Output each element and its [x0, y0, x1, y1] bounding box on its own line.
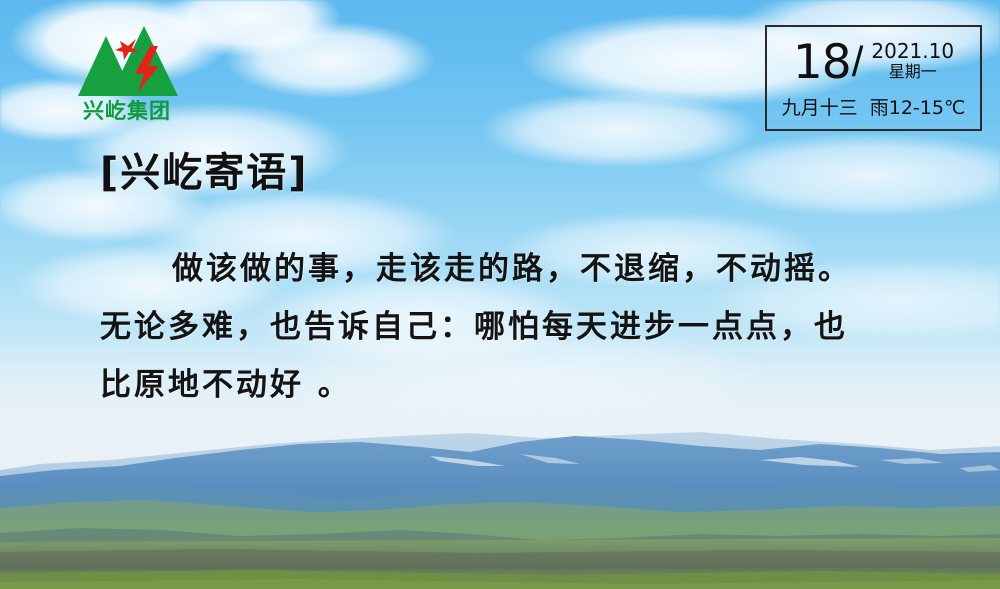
- date-weekday: 星期一: [889, 62, 937, 81]
- date-year-month: 2021.10: [871, 40, 954, 62]
- logo-brand-text: 兴屹集团: [66, 100, 188, 122]
- date-day: 18: [793, 39, 851, 86]
- date-card-top-row: 18 / 2021.10 星期一: [767, 31, 980, 93]
- date-card-right-column: 2021.10 星期一: [871, 40, 954, 81]
- lunar-date-weather: 九月十三 雨12-15℃: [767, 93, 980, 120]
- page-title: [兴屹寄语]: [100, 150, 309, 196]
- mountain-peak-icon: [66, 22, 188, 100]
- poster-canvas: 兴屹集团 18 / 2021.10 星期一 九月十三 雨12-15℃ [兴屹寄语…: [0, 0, 1000, 589]
- quote-line-2: 无论多难，也告诉自己：哪怕每天进步一点点，也: [100, 298, 920, 356]
- quote-body: 做该做的事，走该走的路，不退缩，不动摇。 无论多难，也告诉自己：哪怕每天进步一点…: [100, 240, 920, 414]
- quote-line-3: 比原地不动好 。: [100, 356, 920, 414]
- quote-line-1: 做该做的事，走该走的路，不退缩，不动摇。: [100, 240, 920, 298]
- date-card: 18 / 2021.10 星期一 九月十三 雨12-15℃: [765, 25, 982, 131]
- brand-logo[interactable]: 兴屹集团: [66, 22, 188, 122]
- mountain-landscape: [0, 430, 1000, 589]
- date-separator: /: [852, 41, 864, 83]
